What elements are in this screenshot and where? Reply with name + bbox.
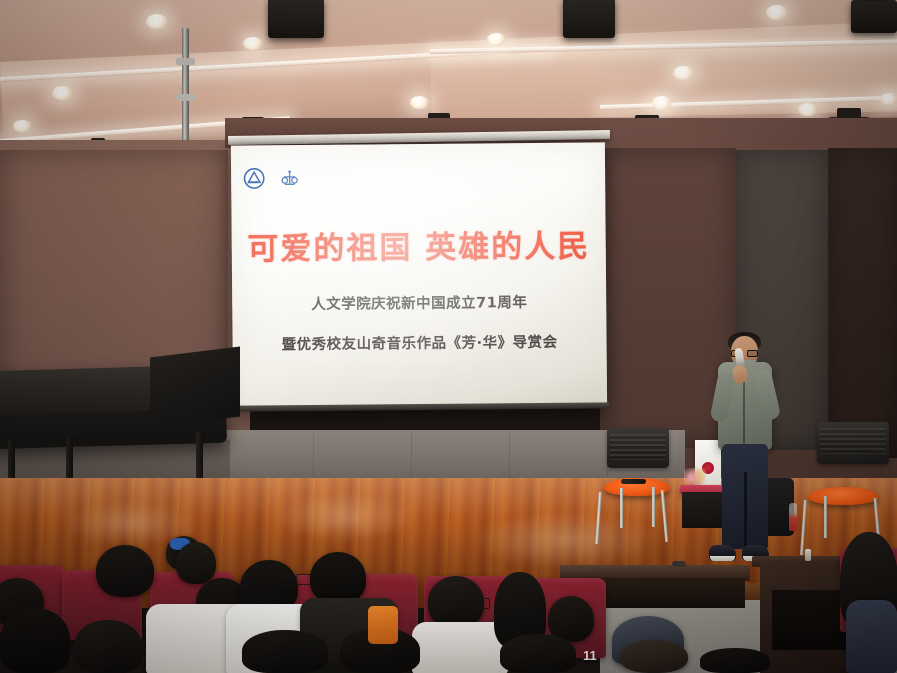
acoustic-wall-panel	[828, 148, 897, 458]
slide-subtitle-line-2: 暨优秀校友山奇音乐作品《芳·华》导赏会	[232, 330, 606, 354]
seat-number: 11	[583, 648, 597, 663]
floor-reflection	[270, 492, 420, 542]
projector-mount-pole	[182, 28, 189, 146]
downlight-icon	[880, 93, 897, 105]
stage-spotlight-icon	[851, 0, 897, 33]
flower-arrangement	[684, 468, 706, 486]
downlight-icon	[673, 66, 694, 80]
audience-shirt	[846, 600, 897, 673]
eyeglasses-icon	[474, 598, 490, 609]
slide-subtitle-line-1: 人文学院庆祝新中国成立71周年	[232, 290, 606, 314]
projector-pole-collar	[176, 58, 195, 65]
slide-logo-group	[243, 167, 300, 194]
downlight-icon	[13, 120, 32, 132]
orange-backpack	[368, 606, 398, 644]
downlight-icon	[52, 86, 73, 100]
podium-recess	[772, 590, 850, 650]
stage-spotlight-icon	[268, 0, 324, 38]
podium-microphone[interactable]	[805, 549, 811, 561]
downlight-icon	[766, 5, 788, 20]
projection-screen: 可爱的祖国 英雄的人民 人文学院庆祝新中国成立71周年 暨优秀校友山奇音乐作品《…	[231, 142, 607, 409]
triangle-emblem-logo	[243, 167, 265, 194]
downlight-icon	[410, 96, 429, 109]
tabletop-object	[672, 561, 686, 567]
audience-head	[242, 630, 328, 673]
chair-seat	[808, 487, 878, 505]
piano-leg	[196, 432, 203, 478]
audience-head	[310, 552, 366, 604]
stage-spotlight-icon	[563, 0, 615, 38]
downlight-icon	[487, 33, 506, 46]
audience-head	[74, 620, 142, 673]
piano-lid	[150, 346, 240, 427]
downlight-icon	[798, 103, 818, 116]
presenter-legs	[722, 444, 768, 549]
chair-leg	[652, 487, 655, 527]
eyeglasses-icon	[278, 576, 295, 587]
audience-head	[620, 640, 688, 673]
downlight-icon	[243, 37, 263, 50]
audience-head	[96, 545, 154, 597]
water-bottle	[789, 503, 797, 531]
audience-head	[0, 608, 70, 673]
downlight-icon	[146, 14, 168, 29]
institution-crest-logo	[279, 168, 300, 194]
microphone-on-chair[interactable]	[621, 479, 646, 484]
downlight-icon	[652, 96, 672, 110]
chair-back	[817, 422, 889, 464]
audience-head	[500, 634, 576, 673]
audience-head	[700, 648, 770, 673]
floor-reflection	[470, 510, 660, 570]
chair-back	[607, 428, 669, 468]
audience-head	[176, 542, 216, 584]
auditorium-photo-scene: 可爱的祖国 英雄的人民 人文学院庆祝新中国成立71周年 暨优秀校友山奇音乐作品《…	[0, 0, 897, 673]
chair-leg	[620, 488, 623, 528]
slide-title: 可爱的祖国 英雄的人民	[232, 220, 606, 268]
presenter-shoe	[709, 545, 736, 561]
projector-pole-collar	[176, 94, 195, 101]
presenter-hand	[732, 365, 748, 384]
chair-leg	[824, 496, 827, 538]
